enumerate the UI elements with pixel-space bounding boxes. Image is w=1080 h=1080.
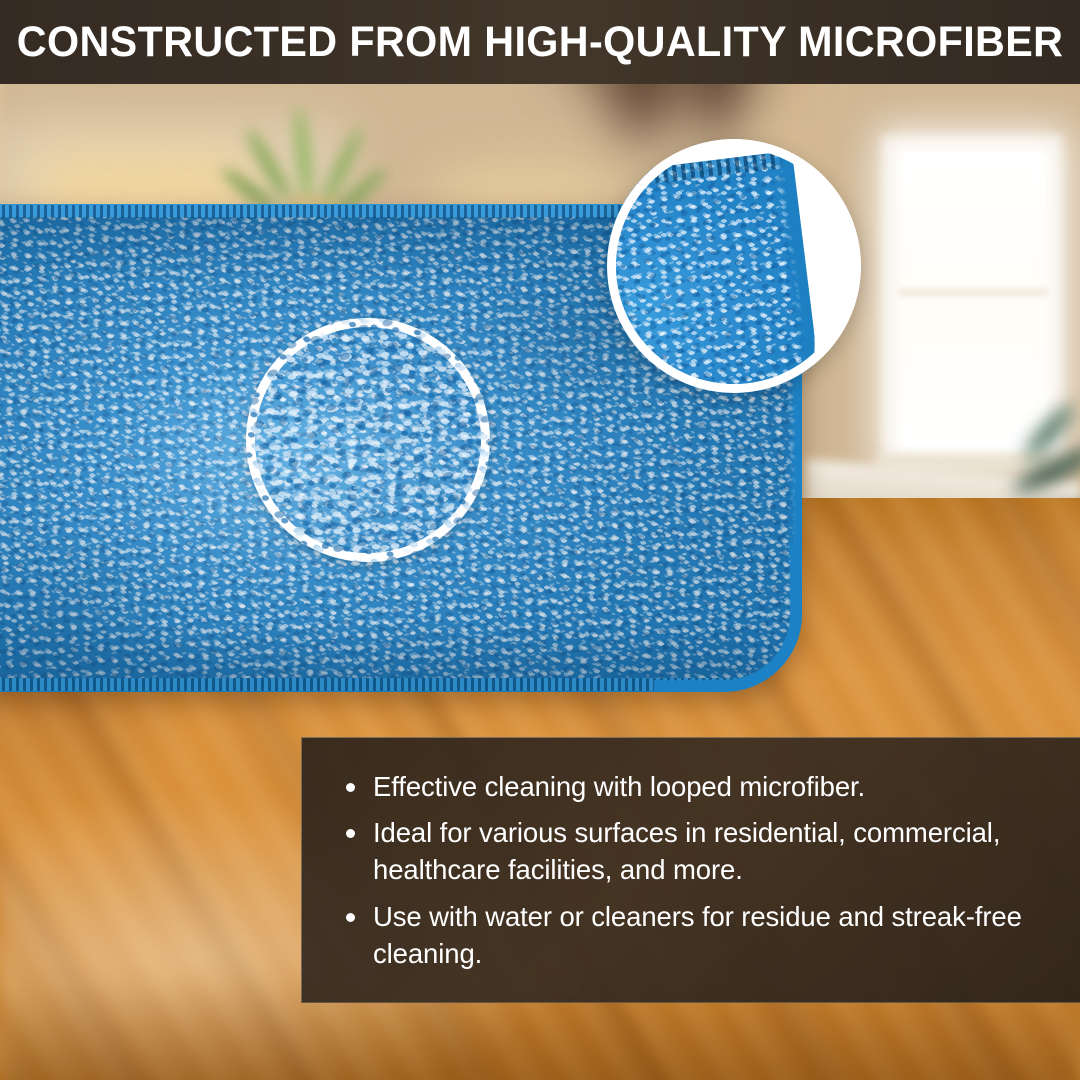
list-item: Use with water or cleaners for residue a…: [342, 898, 1046, 973]
loop-texture-layer: [246, 318, 490, 562]
window-glass: [898, 150, 1048, 450]
plant-leaf: [1010, 443, 1080, 499]
page-title: CONSTRUCTED FROM HIGH-QUALITY MICROFIBER: [17, 21, 1064, 64]
magnified-pad-corner: [607, 151, 828, 393]
mop-pad-rounded-corner: [654, 544, 802, 692]
product-feature-image: CONSTRUCTED FROM HIGH-QUALITY MICROFIBER…: [0, 0, 1080, 1080]
plant-icon: [252, 104, 372, 214]
header-banner: CONSTRUCTED FROM HIGH-QUALITY MICROFIBER: [0, 0, 1080, 84]
window-mullion: [898, 288, 1048, 297]
loop-texture-magnifier-icon: [246, 318, 490, 562]
list-item: Ideal for various surfaces in residentia…: [342, 814, 1046, 889]
corner-edge-magnifier-icon: [607, 139, 861, 393]
magnifier-zoom-window: [246, 318, 490, 562]
magnified-loop-texture: [246, 318, 490, 562]
feature-panel: Effective cleaning with looped microfibe…: [301, 737, 1080, 1003]
feature-bullet-list: Effective cleaning with looped microfibe…: [302, 768, 1080, 973]
plant-leaf: [290, 106, 316, 199]
list-item: Effective cleaning with looped microfibe…: [342, 768, 1046, 805]
